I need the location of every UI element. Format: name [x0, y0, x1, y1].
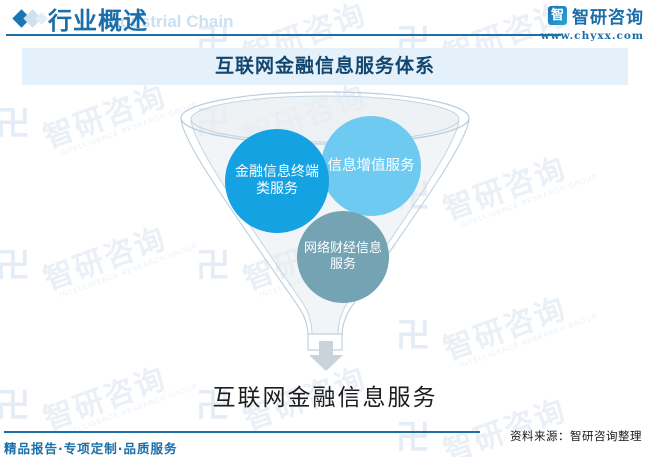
funnel-bubble-label: 信息增值服务: [322, 157, 421, 175]
chart-title-band: 互联网金融信息服务体系: [22, 48, 628, 85]
page-header: Industrial Chain 行业概述 智 智研咨询 www.chyxx.c…: [0, 0, 650, 40]
funnel-output-label: 互联网金融信息服务: [0, 378, 650, 412]
funnel-bubble-finance-terminal[interactable]: 金融信息终端类服务: [225, 129, 329, 233]
brand-row: 智 智研咨询: [540, 3, 644, 28]
brand-block: 智 智研咨询 www.chyxx.com: [540, 3, 644, 42]
footer-tagline: 精品报告·专项定制·品质服务: [4, 438, 178, 457]
page-title: 行业概述: [48, 1, 148, 36]
brand-url: www.chyxx.com: [540, 30, 644, 42]
footer-divider: [4, 431, 480, 433]
source-note: 资料来源：智研咨询整理: [510, 428, 642, 444]
funnel-bubble-label: 金融信息终端类服务: [225, 164, 329, 199]
watermark-logo: 卍: [396, 410, 430, 457]
arrow-down-icon: [309, 341, 343, 371]
funnel-diagram: 金融信息终端类服务 信息增值服务 网络财经信息服务: [0, 88, 650, 388]
header-divider: [6, 34, 561, 36]
funnel-bubble-value-added[interactable]: 信息增值服务: [321, 116, 421, 216]
chart-title: 互联网金融信息服务体系: [22, 48, 628, 85]
funnel-bubble-net-finance[interactable]: 网络财经信息服务: [297, 211, 389, 303]
brand-logo-icon: 智: [548, 6, 567, 25]
funnel-bubble-label: 网络财经信息服务: [297, 241, 389, 274]
brand-name: 智研咨询: [572, 3, 644, 28]
